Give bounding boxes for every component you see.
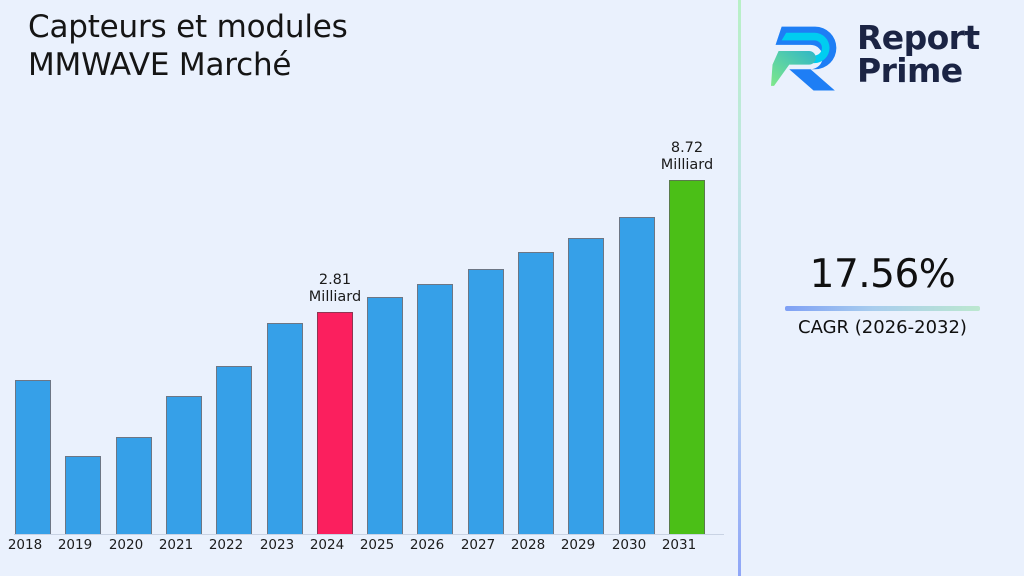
x-tick-2028: 2028	[502, 537, 554, 553]
chart-panel: Capteurs et modules MMWAVE Marché 2.81Mi…	[0, 0, 738, 576]
brand-panel: Report Prime 17.56% CAGR (2026-2032)	[741, 0, 1024, 576]
bar-rect-2027[interactable]	[468, 269, 504, 534]
x-tick-2020: 2020	[100, 537, 152, 553]
bar-rect-2022[interactable]	[216, 366, 252, 534]
bar-chart-plot-area: 2.81Milliard8.72Milliard	[0, 120, 738, 535]
bar-value-label-2024: 2.81Milliard	[309, 272, 361, 306]
bar-value-unit-2024: Milliard	[309, 289, 361, 306]
x-tick-2019: 2019	[49, 537, 101, 553]
cagr-divider-rule	[785, 306, 980, 311]
page-title: Capteurs et modules MMWAVE Marché	[28, 8, 688, 84]
bar-2019[interactable]	[65, 120, 101, 534]
x-tick-2023: 2023	[251, 537, 303, 553]
bar-2029[interactable]	[568, 120, 604, 534]
bar-2022[interactable]	[216, 120, 252, 534]
bar-2021[interactable]	[166, 120, 202, 534]
x-tick-2024: 2024	[301, 537, 353, 553]
bar-2023[interactable]	[267, 120, 303, 534]
x-axis-tick-labels: 2018201920202021202220232024202520262027…	[0, 537, 738, 567]
bar-rect-2019[interactable]	[65, 456, 101, 534]
bar-rect-2026[interactable]	[417, 284, 453, 534]
bar-rect-2028[interactable]	[518, 252, 554, 534]
x-tick-2026: 2026	[401, 537, 453, 553]
bar-value-unit-2031: Milliard	[661, 157, 713, 174]
x-tick-2025: 2025	[351, 537, 403, 553]
cagr-caption: CAGR (2026-2032)	[741, 317, 1024, 339]
bar-rect-2018[interactable]	[15, 380, 51, 534]
x-axis-line	[14, 534, 724, 535]
bar-value-number-2024: 2.81	[309, 272, 361, 289]
bar-2024[interactable]: 2.81Milliard	[317, 120, 353, 534]
brand-logo: Report Prime	[771, 12, 1015, 96]
screenshot-root: Capteurs et modules MMWAVE Marché 2.81Mi…	[0, 0, 1024, 576]
x-tick-2031: 2031	[653, 537, 705, 553]
bar-value-label-2031: 8.72Milliard	[661, 140, 713, 174]
bar-rect-2029[interactable]	[568, 238, 604, 534]
bar-2025[interactable]	[367, 120, 403, 534]
bar-rect-2020[interactable]	[116, 437, 152, 534]
bar-2026[interactable]	[417, 120, 453, 534]
bar-rect-2024[interactable]	[317, 312, 353, 534]
bar-rect-2023[interactable]	[267, 323, 303, 534]
bar-2030[interactable]	[619, 120, 655, 534]
x-tick-2027: 2027	[452, 537, 504, 553]
bar-rect-2031[interactable]	[669, 180, 705, 534]
bar-value-number-2031: 8.72	[661, 140, 713, 157]
x-tick-2029: 2029	[552, 537, 604, 553]
bar-rect-2025[interactable]	[367, 297, 403, 534]
x-tick-2021: 2021	[150, 537, 202, 553]
x-tick-2018: 2018	[0, 537, 51, 553]
brand-name: Report Prime	[857, 21, 980, 87]
cagr-block: 17.56% CAGR (2026-2032)	[741, 252, 1024, 339]
cagr-value: 17.56%	[741, 252, 1024, 298]
x-tick-2030: 2030	[603, 537, 655, 553]
bar-rect-2021[interactable]	[166, 396, 202, 534]
bar-2031[interactable]: 8.72Milliard	[669, 120, 705, 534]
bar-2028[interactable]	[518, 120, 554, 534]
report-prime-logo-icon	[771, 16, 847, 92]
bar-2027[interactable]	[468, 120, 504, 534]
bar-rect-2030[interactable]	[619, 217, 655, 534]
bar-2018[interactable]	[15, 120, 51, 534]
bar-2020[interactable]	[116, 120, 152, 534]
x-tick-2022: 2022	[200, 537, 252, 553]
